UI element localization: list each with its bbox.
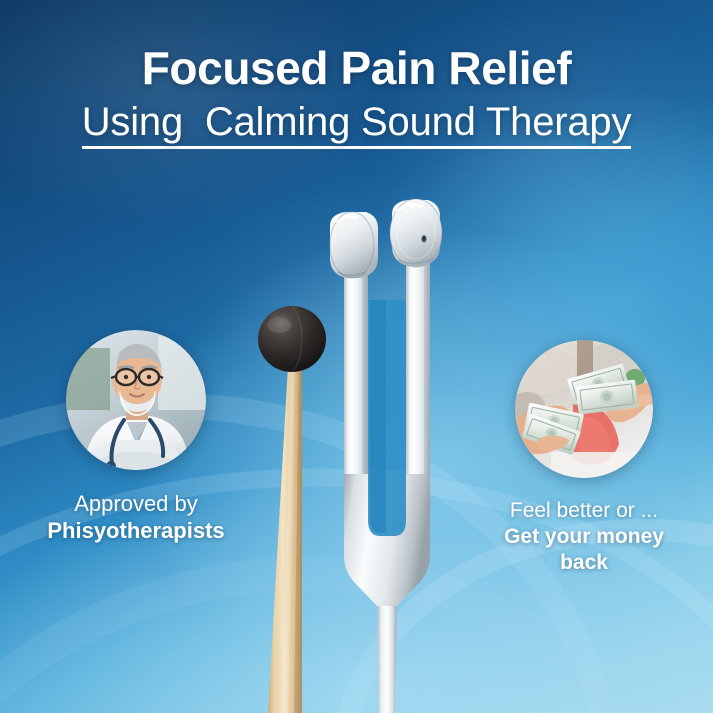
doctor-portrait-illustration	[66, 330, 206, 470]
badge-right-line3: back	[468, 550, 700, 576]
advertisement-banner: Focused Pain Relief Using Calming Sound …	[0, 0, 713, 713]
hands-exchanging-money-illustration	[515, 340, 653, 478]
headline-block: Focused Pain Relief Using Calming Sound …	[0, 44, 713, 149]
badge-left-line2: Phisyotherapists	[18, 517, 254, 544]
badge-left-text: Approved by Phisyotherapists	[18, 490, 254, 545]
badge-approved-by-physiotherapists: Approved by Phisyotherapists	[18, 330, 254, 545]
badge-right-line1: Feel better or ...	[468, 498, 700, 524]
money-photo	[515, 340, 653, 478]
headline-secondary: Using Calming Sound Therapy	[82, 101, 632, 149]
badge-right-line2: Get your money	[468, 524, 700, 550]
badge-right-text: Feel better or ... Get your money back	[468, 498, 700, 576]
headline-primary: Focused Pain Relief	[0, 44, 713, 92]
badge-money-back-guarantee: Feel better or ... Get your money back	[468, 340, 700, 576]
badge-left-line1: Approved by	[18, 490, 254, 517]
doctor-photo	[66, 330, 206, 470]
